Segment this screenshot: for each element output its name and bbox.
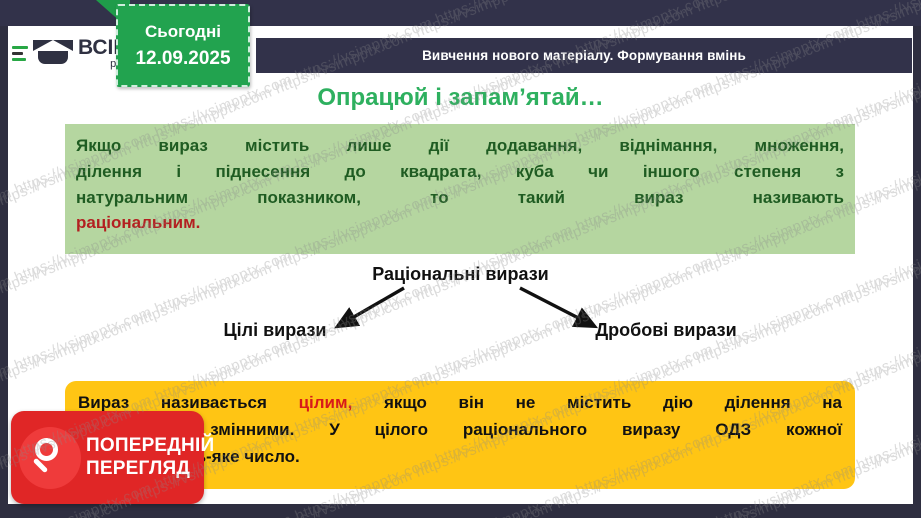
yellow-accent-word: цілим, <box>299 393 353 412</box>
classification-diagram: Раціональні вирази Цілі вирази Дробові в… <box>0 262 921 362</box>
yellow-line-1-part-a: Вираз називається <box>78 393 299 412</box>
slide-root: ВСІМ pptx Сьогодні 12.09.2025 Вивчення н… <box>0 0 921 518</box>
speed-lines-icon <box>12 46 28 61</box>
definition-box-rational: Якщо вираз містить лише дії додавання, в… <box>65 124 855 254</box>
preview-watermark-badge: ПОПЕРЕДНІЙ ПЕРЕГЛЯД <box>11 411 204 504</box>
preview-badge-text: ПОПЕРЕДНІЙ ПЕРЕГЛЯД <box>86 436 214 479</box>
lesson-stage-bar: Вивчення нового матеріалу. Формування вм… <box>256 38 912 73</box>
green-accent-word: раціональним. <box>76 213 200 232</box>
green-line-3: натуральним показником, то такий вираз н… <box>76 185 844 211</box>
magnifier-icon <box>19 427 81 489</box>
graduation-cap-icon <box>33 36 73 70</box>
today-date-tag: Сьогодні 12.09.2025 <box>116 4 250 87</box>
today-label: Сьогодні <box>145 22 221 42</box>
diagram-right-label: Дробові вирази <box>541 320 791 341</box>
section-title: Опрацюй і запам’ятай… <box>0 84 921 112</box>
green-line-4: раціональним. <box>76 210 844 236</box>
green-line-2: ділення і піднесення до квадрата, куба ч… <box>76 159 844 185</box>
yellow-line-1-part-b: якщо він не містить дію ділення на <box>352 393 842 412</box>
lesson-stage-title: Вивчення нового матеріалу. Формування вм… <box>422 48 746 63</box>
diagram-arrows <box>0 262 921 362</box>
green-line-1: Якщо вираз містить лише дії додавання, в… <box>76 133 844 159</box>
preview-badge-line-1: ПОПЕРЕДНІЙ <box>86 436 214 456</box>
today-date-value: 12.09.2025 <box>135 48 230 70</box>
preview-badge-line-2: ПЕРЕГЛЯД <box>86 459 214 479</box>
brand-logo: ВСІМ pptx <box>12 30 132 76</box>
diagram-left-label: Цілі вирази <box>150 320 400 341</box>
